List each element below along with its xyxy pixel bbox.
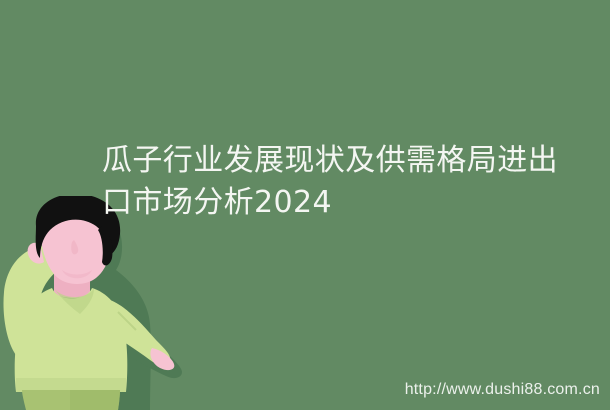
person-scratching-head-illustration — [0, 196, 250, 410]
pants-shade — [70, 390, 120, 410]
sweater-hem — [16, 378, 126, 392]
source-url-watermark: http://www.dushi88.com.cn — [405, 381, 600, 399]
page-title: 瓜子行业发展现状及供需格局进出 口市场分析2024 — [102, 140, 572, 224]
title-line-2: 口市场分析2024 — [102, 182, 572, 224]
title-line-1: 瓜子行业发展现状及供需格局进出 — [102, 140, 572, 182]
poster-canvas: 瓜子行业发展现状及供需格局进出 口市场分析2024 http://www.dus… — [0, 0, 610, 410]
